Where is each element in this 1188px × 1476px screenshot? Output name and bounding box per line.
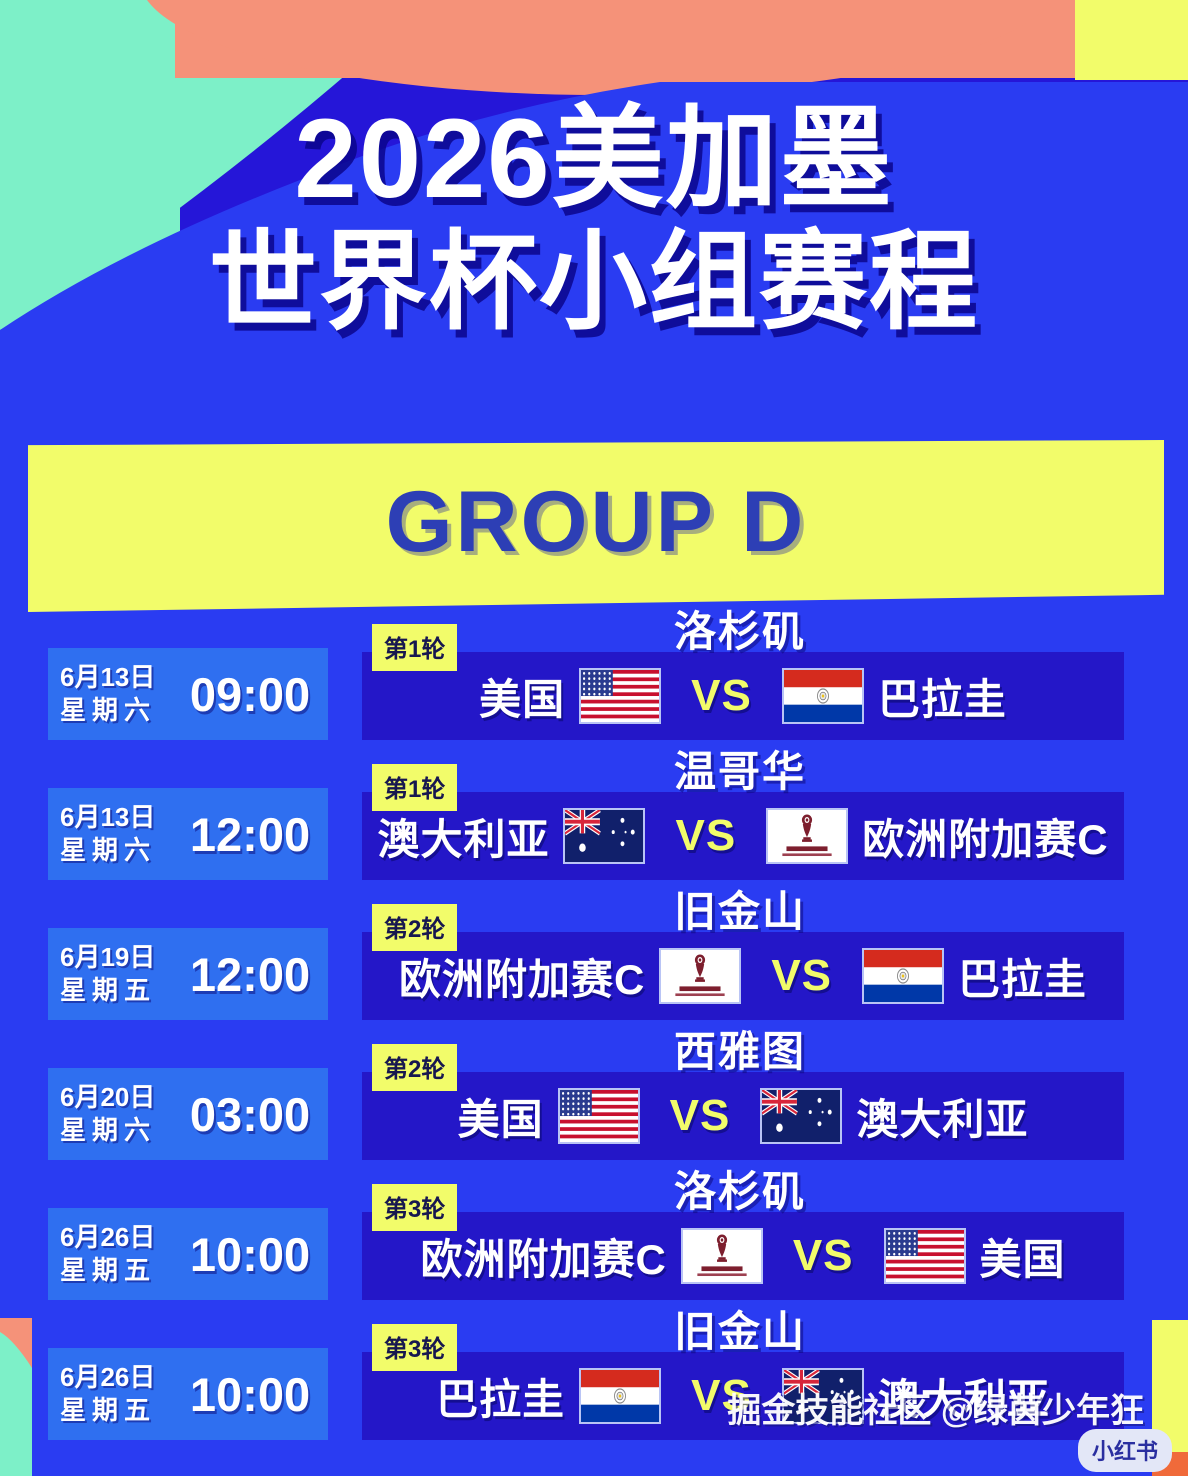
round-badge: 第3轮 [372,1324,457,1371]
match-datetime: 6月13日星期六12:00 [48,788,328,880]
australia-flag [563,808,645,864]
match-time: 10:00 [172,1367,328,1422]
round-badge: 第3轮 [372,1184,457,1231]
away-team-name: 澳大利亚 [856,1086,1028,1147]
group-label: GROUP D [386,473,807,572]
usa-flag [884,1228,966,1284]
fifa-trophy-logo [659,948,741,1004]
away-team-name: 巴拉圭 [878,666,1007,727]
match-time: 10:00 [172,1227,328,1282]
match-date: 6月19日 [60,941,172,974]
match-row[interactable]: 洛杉矶6月13日星期六09:00第1轮美国VS巴拉圭 [0,612,1188,752]
home-team-name: 欧洲附加赛C [399,946,645,1007]
paraguay-flag [782,668,864,724]
away-team-name: 美国 [980,1226,1066,1287]
xiaohongshu-badge: 小红书 [1078,1429,1172,1472]
match-weekday: 星期五 [60,1394,172,1427]
round-badge: 第1轮 [372,764,457,811]
match-row[interactable]: 洛杉矶6月26日星期五10:00第3轮欧洲附加赛CVS美国 [0,1172,1188,1312]
match-date-block: 6月19日星期五 [48,941,172,1007]
match-city: 旧金山 [360,1306,1120,1358]
match-city: 洛杉矶 [360,1166,1120,1218]
home-team-name: 欧洲附加赛C [420,1226,666,1287]
away-team-name: 欧洲附加赛C [862,806,1108,867]
page-title-line1: 2026美加墨 [294,100,893,219]
match-panel[interactable]: 欧洲附加赛CVS美国 [362,1212,1124,1300]
vs-label: VS [654,1091,747,1141]
match-city: 洛杉矶 [360,606,1120,658]
vs-label: VS [777,1231,870,1281]
match-date: 6月13日 [60,661,172,694]
match-city: 温哥华 [360,746,1120,798]
match-datetime: 6月26日星期五10:00 [48,1348,328,1440]
usa-flag [558,1088,640,1144]
match-weekday: 星期五 [60,974,172,1007]
group-banner: GROUP D [28,440,1164,612]
match-panel[interactable]: 美国VS巴拉圭 [362,652,1124,740]
match-weekday: 星期六 [60,834,172,867]
match-city: 旧金山 [360,886,1120,938]
match-date: 6月20日 [60,1081,172,1114]
paraguay-flag [579,1368,661,1424]
match-weekday: 星期五 [60,1254,172,1287]
match-row[interactable]: 旧金山6月19日星期五12:00第2轮欧洲附加赛CVS巴拉圭 [0,892,1188,1032]
away-team-name: 巴拉圭 [958,946,1087,1007]
match-time: 09:00 [172,667,328,722]
vs-label: VS [675,671,768,721]
match-date: 6月26日 [60,1361,172,1394]
match-datetime: 6月19日星期五12:00 [48,928,328,1020]
match-panel[interactable]: 澳大利亚VS欧洲附加赛C [362,792,1124,880]
fifa-trophy-logo [766,808,848,864]
match-panel[interactable]: 欧洲附加赛CVS巴拉圭 [362,932,1124,1020]
match-datetime: 6月20日星期六03:00 [48,1068,328,1160]
home-team-name: 美国 [458,1086,544,1147]
match-date-block: 6月26日星期五 [48,1361,172,1427]
round-badge: 第2轮 [372,1044,457,1091]
match-date-block: 6月26日星期五 [48,1221,172,1287]
match-time: 12:00 [172,947,328,1002]
match-date-block: 6月20日星期六 [48,1081,172,1147]
match-date: 6月13日 [60,801,172,834]
round-badge: 第1轮 [372,624,457,671]
watermark-text: 掘金技能社区 @绿茵少年狂 [727,1383,1144,1432]
paraguay-flag [862,948,944,1004]
match-time: 03:00 [172,1087,328,1142]
home-team-name: 巴拉圭 [436,1366,565,1427]
match-datetime: 6月13日星期六09:00 [48,648,328,740]
match-date-block: 6月13日星期六 [48,801,172,867]
australia-flag [760,1088,842,1144]
match-city: 西雅图 [360,1026,1120,1078]
fifa-trophy-logo [681,1228,763,1284]
match-datetime: 6月26日星期五10:00 [48,1208,328,1300]
match-row[interactable]: 温哥华6月13日星期六12:00第1轮澳大利亚VS欧洲附加赛C [0,752,1188,892]
match-time: 12:00 [172,807,328,862]
match-weekday: 星期六 [60,694,172,727]
home-team-name: 美国 [479,666,565,727]
match-weekday: 星期六 [60,1114,172,1147]
match-date-block: 6月13日星期六 [48,661,172,727]
match-date: 6月26日 [60,1221,172,1254]
page-title-line2: 世界杯小组赛程 [209,225,979,339]
vs-label: VS [755,951,848,1001]
schedule-list: 洛杉矶6月13日星期六09:00第1轮美国VS巴拉圭温哥华6月13日星期六12:… [0,612,1188,1452]
page-header: 2026美加墨 世界杯小组赛程 [0,0,1188,440]
match-row[interactable]: 西雅图6月20日星期六03:00第2轮美国VS澳大利亚 [0,1032,1188,1172]
usa-flag [579,668,661,724]
match-panel[interactable]: 美国VS澳大利亚 [362,1072,1124,1160]
home-team-name: 澳大利亚 [377,806,549,867]
round-badge: 第2轮 [372,904,457,951]
vs-label: VS [659,811,752,861]
